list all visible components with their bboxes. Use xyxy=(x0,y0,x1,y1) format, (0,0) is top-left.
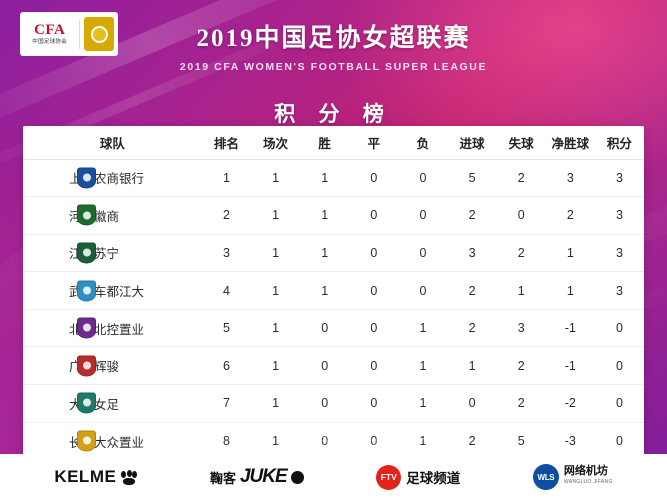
col-header-win: 胜 xyxy=(300,126,349,159)
col-header-goals-against: 失球 xyxy=(497,126,546,159)
sponsor-wls: WLS 网络机坊 WANGLUO JIFANG xyxy=(533,464,613,490)
juke-label-cn: 鞠客 xyxy=(210,468,236,487)
cell-win: 1 xyxy=(300,234,349,272)
cell-win: 1 xyxy=(300,272,349,310)
table-row: 大连女足7100102-20 xyxy=(23,385,644,423)
sponsor-kelme: KELME xyxy=(54,467,137,487)
juke-label-en: JUKE xyxy=(240,466,287,488)
cell-team: 上海农商银行 xyxy=(23,159,202,197)
table-row: 河南徽商211002023 xyxy=(23,197,644,235)
cell-team: 江苏苏宁 xyxy=(23,234,202,272)
cell-goals-against: 2 xyxy=(497,234,546,272)
cell-draw: 0 xyxy=(349,309,398,347)
cell-goals-for: 0 xyxy=(447,385,496,423)
cell-points: 3 xyxy=(595,197,644,235)
cfa-emblem-inner xyxy=(91,26,108,43)
cell-played: 1 xyxy=(251,309,300,347)
sponsor-footer: KELME 鞠客 JUKE FTV 足球频道 WLS 网络机坊 WANGLUO … xyxy=(0,454,667,500)
cell-draw: 0 xyxy=(349,197,398,235)
cell-played: 1 xyxy=(251,197,300,235)
wls-logo-icon: WLS xyxy=(533,464,559,490)
cell-goals-for: 1 xyxy=(447,347,496,385)
cell-points: 0 xyxy=(595,309,644,347)
team-crest-icon xyxy=(77,242,96,263)
team-crest-icon xyxy=(77,393,96,414)
cell-goals-for: 3 xyxy=(447,234,496,272)
logo-divider xyxy=(79,19,80,49)
cfa-logo: CFA 中国足球协会 xyxy=(20,12,118,56)
cell-played: 1 xyxy=(251,159,300,197)
col-header-team: 球队 xyxy=(23,126,202,159)
cell-draw: 0 xyxy=(349,234,398,272)
cell-loss: 0 xyxy=(398,197,447,235)
cell-rank: 6 xyxy=(202,347,251,385)
team-crest-icon xyxy=(77,318,96,339)
cell-loss: 1 xyxy=(398,385,447,423)
page-title-en: 2019 CFA WOMEN'S FOOTBALL SUPER LEAGUE xyxy=(0,61,667,73)
cell-goal-diff: 1 xyxy=(546,234,595,272)
team-crest-icon xyxy=(77,205,96,226)
cell-played: 1 xyxy=(251,385,300,423)
poster-root: CFA 中国足球协会 2019中国足协女超联赛 2019 CFA WOMEN'S… xyxy=(0,0,667,500)
cell-rank: 5 xyxy=(202,309,251,347)
cell-goals-against: 2 xyxy=(497,347,546,385)
cell-win: 0 xyxy=(300,309,349,347)
standings-table: 球队 排名 场次 胜 平 负 进球 失球 净胜球 积分 上海农商银行111005… xyxy=(23,126,644,460)
cell-played: 1 xyxy=(251,272,300,310)
col-header-played: 场次 xyxy=(251,126,300,159)
cell-loss: 0 xyxy=(398,159,447,197)
sponsor-ftv: FTV 足球频道 xyxy=(376,465,460,490)
cell-rank: 3 xyxy=(202,234,251,272)
wls-label-block: 网络机坊 WANGLUO JIFANG xyxy=(564,466,613,488)
cell-goals-for: 2 xyxy=(447,272,496,310)
wls-label-cn: 网络机坊 xyxy=(564,466,613,477)
team-crest-icon xyxy=(77,280,96,301)
cfa-brand-cn: 中国足球协会 xyxy=(32,38,67,46)
table-row: 北京北控置业5100123-10 xyxy=(23,309,644,347)
cell-played: 1 xyxy=(251,234,300,272)
cell-team: 武汉车都江大 xyxy=(23,272,202,310)
col-header-points: 积分 xyxy=(595,126,644,159)
cell-draw: 0 xyxy=(349,385,398,423)
team-crest-icon xyxy=(77,431,96,452)
ftv-badge-icon: FTV xyxy=(376,465,401,490)
cell-team: 河南徽商 xyxy=(23,197,202,235)
cell-rank: 1 xyxy=(202,159,251,197)
kelme-paw-icon xyxy=(121,470,137,485)
col-header-goals-for: 进球 xyxy=(447,126,496,159)
cell-goals-for: 2 xyxy=(447,309,496,347)
col-header-rank: 排名 xyxy=(202,126,251,159)
table-body: 上海农商银行111005233河南徽商211002023江苏苏宁31100321… xyxy=(23,159,644,460)
cfa-brand-word: CFA xyxy=(34,22,65,38)
cell-goal-diff: -1 xyxy=(546,347,595,385)
cell-draw: 0 xyxy=(349,347,398,385)
cell-points: 3 xyxy=(595,159,644,197)
cell-draw: 0 xyxy=(349,159,398,197)
table-row: 江苏苏宁311003213 xyxy=(23,234,644,272)
standings-table-container: 球队 排名 场次 胜 平 负 进球 失球 净胜球 积分 上海农商银行111005… xyxy=(23,126,644,460)
cell-goal-diff: 2 xyxy=(546,197,595,235)
col-header-goal-diff: 净胜球 xyxy=(546,126,595,159)
cell-win: 0 xyxy=(300,385,349,423)
cell-team: 广东辉骏 xyxy=(23,347,202,385)
kelme-label: KELME xyxy=(54,467,116,487)
cell-points: 3 xyxy=(595,272,644,310)
cell-loss: 0 xyxy=(398,234,447,272)
team-crest-icon xyxy=(77,167,96,188)
cell-goals-against: 0 xyxy=(497,197,546,235)
cell-goals-against: 2 xyxy=(497,159,546,197)
cell-goals-against: 2 xyxy=(497,385,546,423)
cell-goals-for: 2 xyxy=(447,197,496,235)
cell-points: 0 xyxy=(595,347,644,385)
cfa-logo-text: CFA 中国足球协会 xyxy=(24,22,75,46)
cell-draw: 0 xyxy=(349,272,398,310)
col-header-loss: 负 xyxy=(398,126,447,159)
cell-played: 1 xyxy=(251,347,300,385)
cfa-emblem-icon xyxy=(84,17,114,51)
team-crest-icon xyxy=(77,355,96,376)
wls-label-en: WANGLUO JIFANG xyxy=(564,477,613,488)
cell-loss: 1 xyxy=(398,309,447,347)
cell-loss: 1 xyxy=(398,347,447,385)
table-header: 球队 排名 场次 胜 平 负 进球 失球 净胜球 积分 xyxy=(23,126,644,159)
cell-points: 0 xyxy=(595,385,644,423)
cell-goal-diff: -2 xyxy=(546,385,595,423)
cell-team: 大连女足 xyxy=(23,385,202,423)
section-subtitle: 积 分 榜 xyxy=(0,98,667,128)
cell-rank: 2 xyxy=(202,197,251,235)
poster-header: CFA 中国足球协会 2019中国足协女超联赛 2019 CFA WOMEN'S… xyxy=(0,0,667,86)
cell-win: 0 xyxy=(300,347,349,385)
col-header-draw: 平 xyxy=(349,126,398,159)
cell-loss: 0 xyxy=(398,272,447,310)
table-header-row: 球队 排名 场次 胜 平 负 进球 失球 净胜球 积分 xyxy=(23,126,644,159)
cell-goal-diff: -1 xyxy=(546,309,595,347)
cell-goals-against: 1 xyxy=(497,272,546,310)
sponsor-juke: 鞠客 JUKE xyxy=(210,466,304,488)
table-row: 上海农商银行111005233 xyxy=(23,159,644,197)
cell-rank: 4 xyxy=(202,272,251,310)
cell-win: 1 xyxy=(300,197,349,235)
cell-win: 1 xyxy=(300,159,349,197)
cell-goals-against: 3 xyxy=(497,309,546,347)
table-row: 广东辉骏6100112-10 xyxy=(23,347,644,385)
cell-points: 3 xyxy=(595,234,644,272)
cell-goals-for: 5 xyxy=(447,159,496,197)
ftv-label: 足球频道 xyxy=(406,467,460,487)
cell-goal-diff: 1 xyxy=(546,272,595,310)
cell-rank: 7 xyxy=(202,385,251,423)
cell-team: 北京北控置业 xyxy=(23,309,202,347)
juke-ball-icon xyxy=(291,471,304,484)
cell-goal-diff: 3 xyxy=(546,159,595,197)
table-row: 武汉车都江大411002113 xyxy=(23,272,644,310)
